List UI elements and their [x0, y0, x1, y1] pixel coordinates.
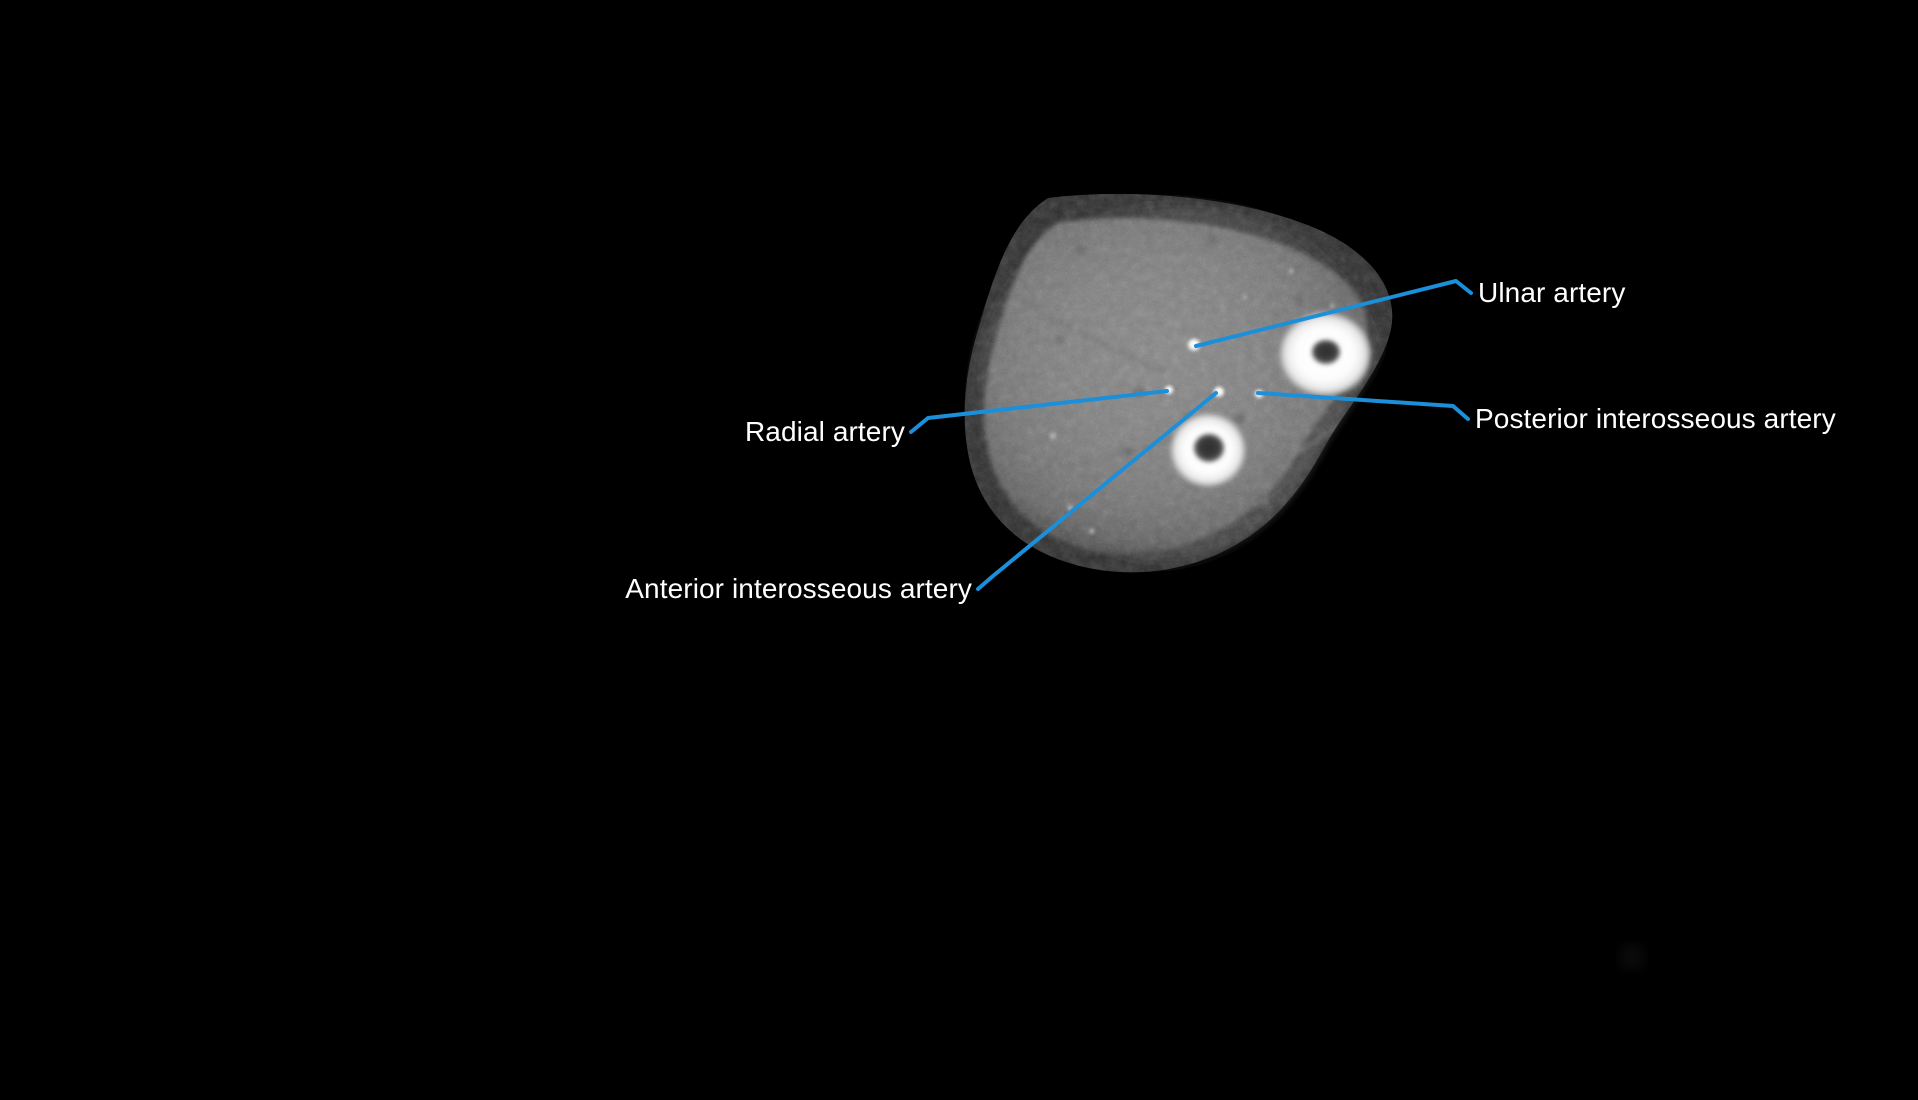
label-posterior-interosseous-artery[interactable]: Posterior interosseous artery: [1475, 405, 1836, 433]
radius-marrow-cavity: [1194, 434, 1224, 462]
label-anterior-interosseous-artery[interactable]: Anterior interosseous artery: [625, 575, 972, 603]
label-ulnar-artery[interactable]: Ulnar artery: [1478, 279, 1625, 307]
viewport: Ulnar artery Posterior interosseous arte…: [0, 0, 1918, 1100]
radius-bone: [1170, 413, 1246, 487]
ct-scan-canvas: [0, 0, 1918, 1100]
label-radial-artery[interactable]: Radial artery: [745, 418, 905, 446]
ulna-marrow-cavity: [1312, 340, 1340, 364]
ct-scan-image[interactable]: [0, 0, 1918, 1100]
ulna-bone: [1279, 312, 1371, 396]
faint-spot-artifact: [1623, 948, 1641, 966]
